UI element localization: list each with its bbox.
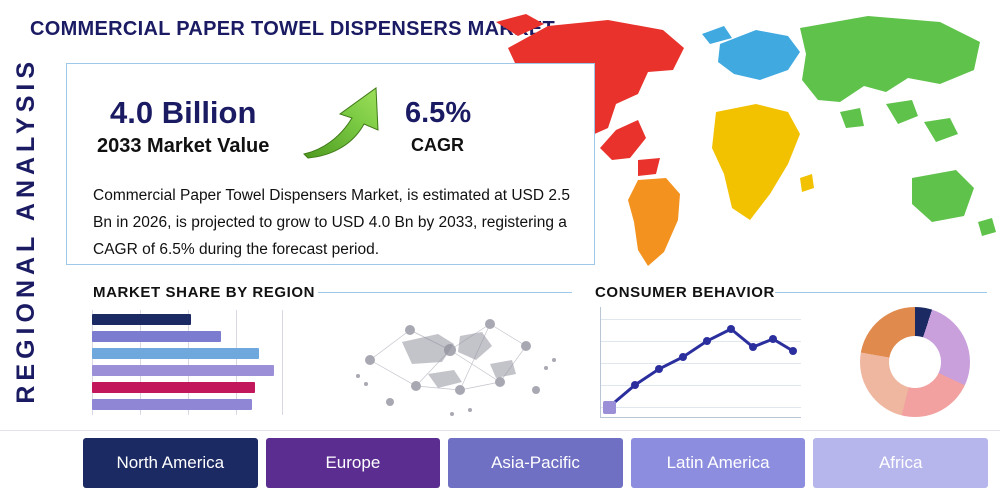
growth-arrow-icon	[300, 80, 390, 160]
bar-gridline	[282, 310, 283, 415]
consumer-behavior-heading: CONSUMER BEHAVIOR	[595, 284, 775, 301]
page-title: COMMERCIAL PAPER TOWEL DISPENSERS MARKET	[30, 18, 555, 41]
market-value-caption: 2033 Market Value	[97, 135, 269, 158]
map-region-africa	[712, 104, 814, 220]
summary-paragraph: Commercial Paper Towel Dispensers Market…	[93, 182, 593, 263]
map-region-asia	[800, 16, 980, 142]
region-asia-pacific[interactable]: Asia-Pacific	[448, 438, 623, 488]
market-share-heading: MARKET SHARE BY REGION	[93, 284, 315, 301]
bar-africa	[92, 382, 255, 393]
region-label: Latin America	[667, 453, 770, 473]
consumer-behavior-rule	[775, 292, 987, 293]
global-network-icon	[350, 290, 560, 425]
map-region-south-america	[628, 178, 680, 266]
bar-europe	[92, 331, 221, 342]
regional-analysis-label: REGIONAL ANALYSIS	[0, 40, 52, 420]
bar-latin-america	[92, 365, 274, 376]
region-latin-america[interactable]: Latin America	[631, 438, 806, 488]
region-legend: North America Europe Asia-Pacific Latin …	[83, 438, 988, 488]
market-value-figure: 4.0 Billion	[110, 95, 256, 131]
market-share-bar-chart	[92, 310, 282, 415]
cagr-figure: 6.5%	[405, 97, 471, 130]
map-region-europe	[702, 26, 800, 80]
infographic-root: REGIONAL ANALYSIS COMMERCIAL PAPER TOWEL…	[0, 0, 1000, 500]
region-label: North America	[116, 453, 224, 473]
bar-asia-pacific	[92, 348, 259, 359]
region-europe[interactable]: Europe	[266, 438, 441, 488]
region-label: Europe	[325, 453, 380, 473]
region-label: Asia-Pacific	[491, 453, 580, 473]
cagr-caption: CAGR	[411, 135, 464, 156]
region-label: Africa	[879, 453, 922, 473]
bar-north-america	[92, 314, 191, 325]
region-africa[interactable]: Africa	[813, 438, 988, 488]
consumer-behavior-line-chart	[600, 307, 801, 418]
bottom-divider	[0, 430, 1000, 431]
region-north-america[interactable]: North America	[83, 438, 258, 488]
segment-donut-chart	[860, 307, 970, 417]
regional-analysis-text: REGIONAL ANALYSIS	[12, 57, 41, 404]
bar-middle-east	[92, 399, 252, 410]
map-region-oceania	[912, 170, 996, 236]
